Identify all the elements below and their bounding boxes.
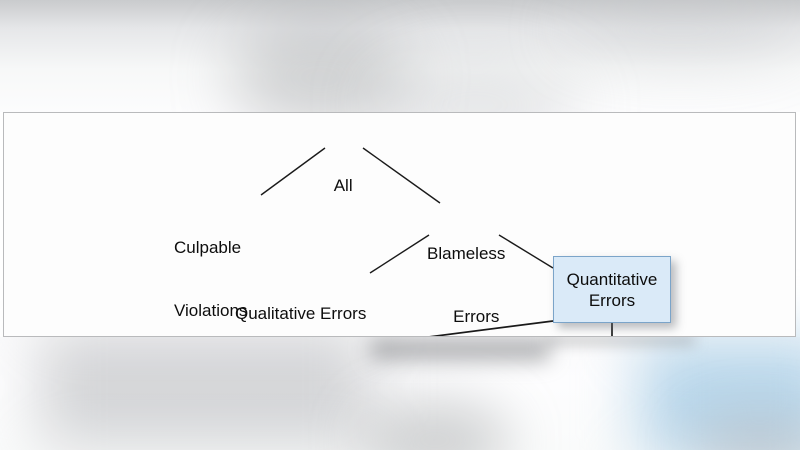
blur-blob-bottom-right-gray — [690, 415, 800, 450]
blur-blob-top-right — [560, 0, 800, 60]
blurred-top-band — [0, 0, 800, 112]
blur-blob-bottom-center — [360, 400, 510, 450]
node-blameless-errors-line-2: Errors — [427, 306, 505, 327]
node-qualitative-errors[interactable]: Qualitative Errors (Latent errors) — [235, 261, 366, 337]
blurred-bottom-band — [0, 337, 800, 450]
blur-blob-panel-shadow — [370, 337, 550, 361]
slide-stage: All Culpable Violations Blameless Errors… — [0, 0, 800, 450]
diagram-edges — [4, 113, 796, 337]
node-all-line-1: All — [329, 175, 357, 196]
node-culpable-violations-line-1: Culpable — [174, 237, 247, 258]
edge-blameless-to-qualitative — [370, 235, 429, 273]
blur-blob-bottom-left — [40, 330, 370, 445]
node-quantitative-errors-line-2: Errors — [567, 290, 658, 311]
blur-line-hint — [545, 336, 695, 344]
node-blameless-errors-line-1: Blameless — [427, 243, 505, 264]
edge-all-to-culpable — [261, 148, 325, 195]
node-qualitative-errors-line-1: Qualitative Errors — [235, 303, 366, 324]
edge-blameless-to-quantitative — [499, 235, 553, 268]
node-quantitative-errors-line-1: Quantitative — [567, 269, 658, 290]
node-all[interactable]: All — [329, 133, 357, 238]
edge-all-to-blameless — [363, 148, 440, 203]
node-quantitative-errors-label: Quantitative Errors — [567, 269, 658, 311]
diagram-panel: All Culpable Violations Blameless Errors… — [3, 112, 796, 337]
node-blameless-errors[interactable]: Blameless Errors — [427, 201, 505, 337]
blur-blob-bottom-right-blue — [640, 340, 800, 450]
node-quantitative-errors[interactable]: Quantitative Errors — [553, 256, 671, 323]
